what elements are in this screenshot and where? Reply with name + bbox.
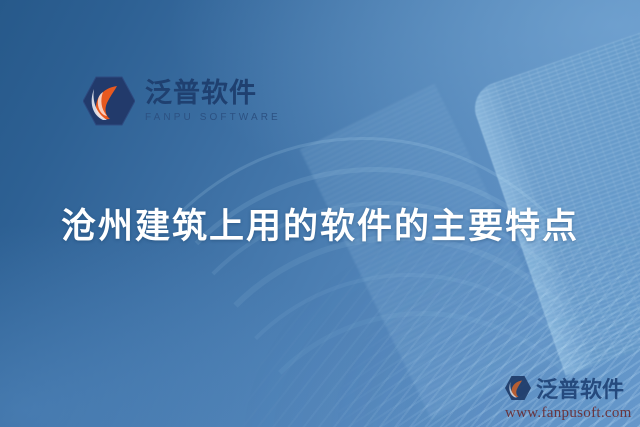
fanpu-hexagon-logo-icon [83, 75, 135, 127]
watermark-url: www.fanpusoft.com [505, 405, 637, 422]
brand-name-en: FANPU SOFTWARE [145, 113, 281, 123]
brand-logo-text: 泛普软件 FANPU SOFTWARE [145, 80, 281, 123]
watermark-brand-row: 泛普软件 [505, 372, 637, 404]
brand-name-cn: 泛普软件 [145, 80, 281, 107]
watermark-brand-name: 泛普软件 [536, 372, 624, 404]
banner-headline: 沧州建筑上用的软件的主要特点 [0, 198, 640, 249]
corner-watermark: 泛普软件 www.fanpusoft.com [505, 372, 637, 422]
brand-logo[interactable]: 泛普软件 FANPU SOFTWARE [83, 75, 281, 127]
promo-banner: 泛普软件 FANPU SOFTWARE 沧州建筑上用的软件的主要特点 泛普软件 … [0, 0, 640, 427]
fanpu-hexagon-logo-icon [505, 375, 531, 401]
